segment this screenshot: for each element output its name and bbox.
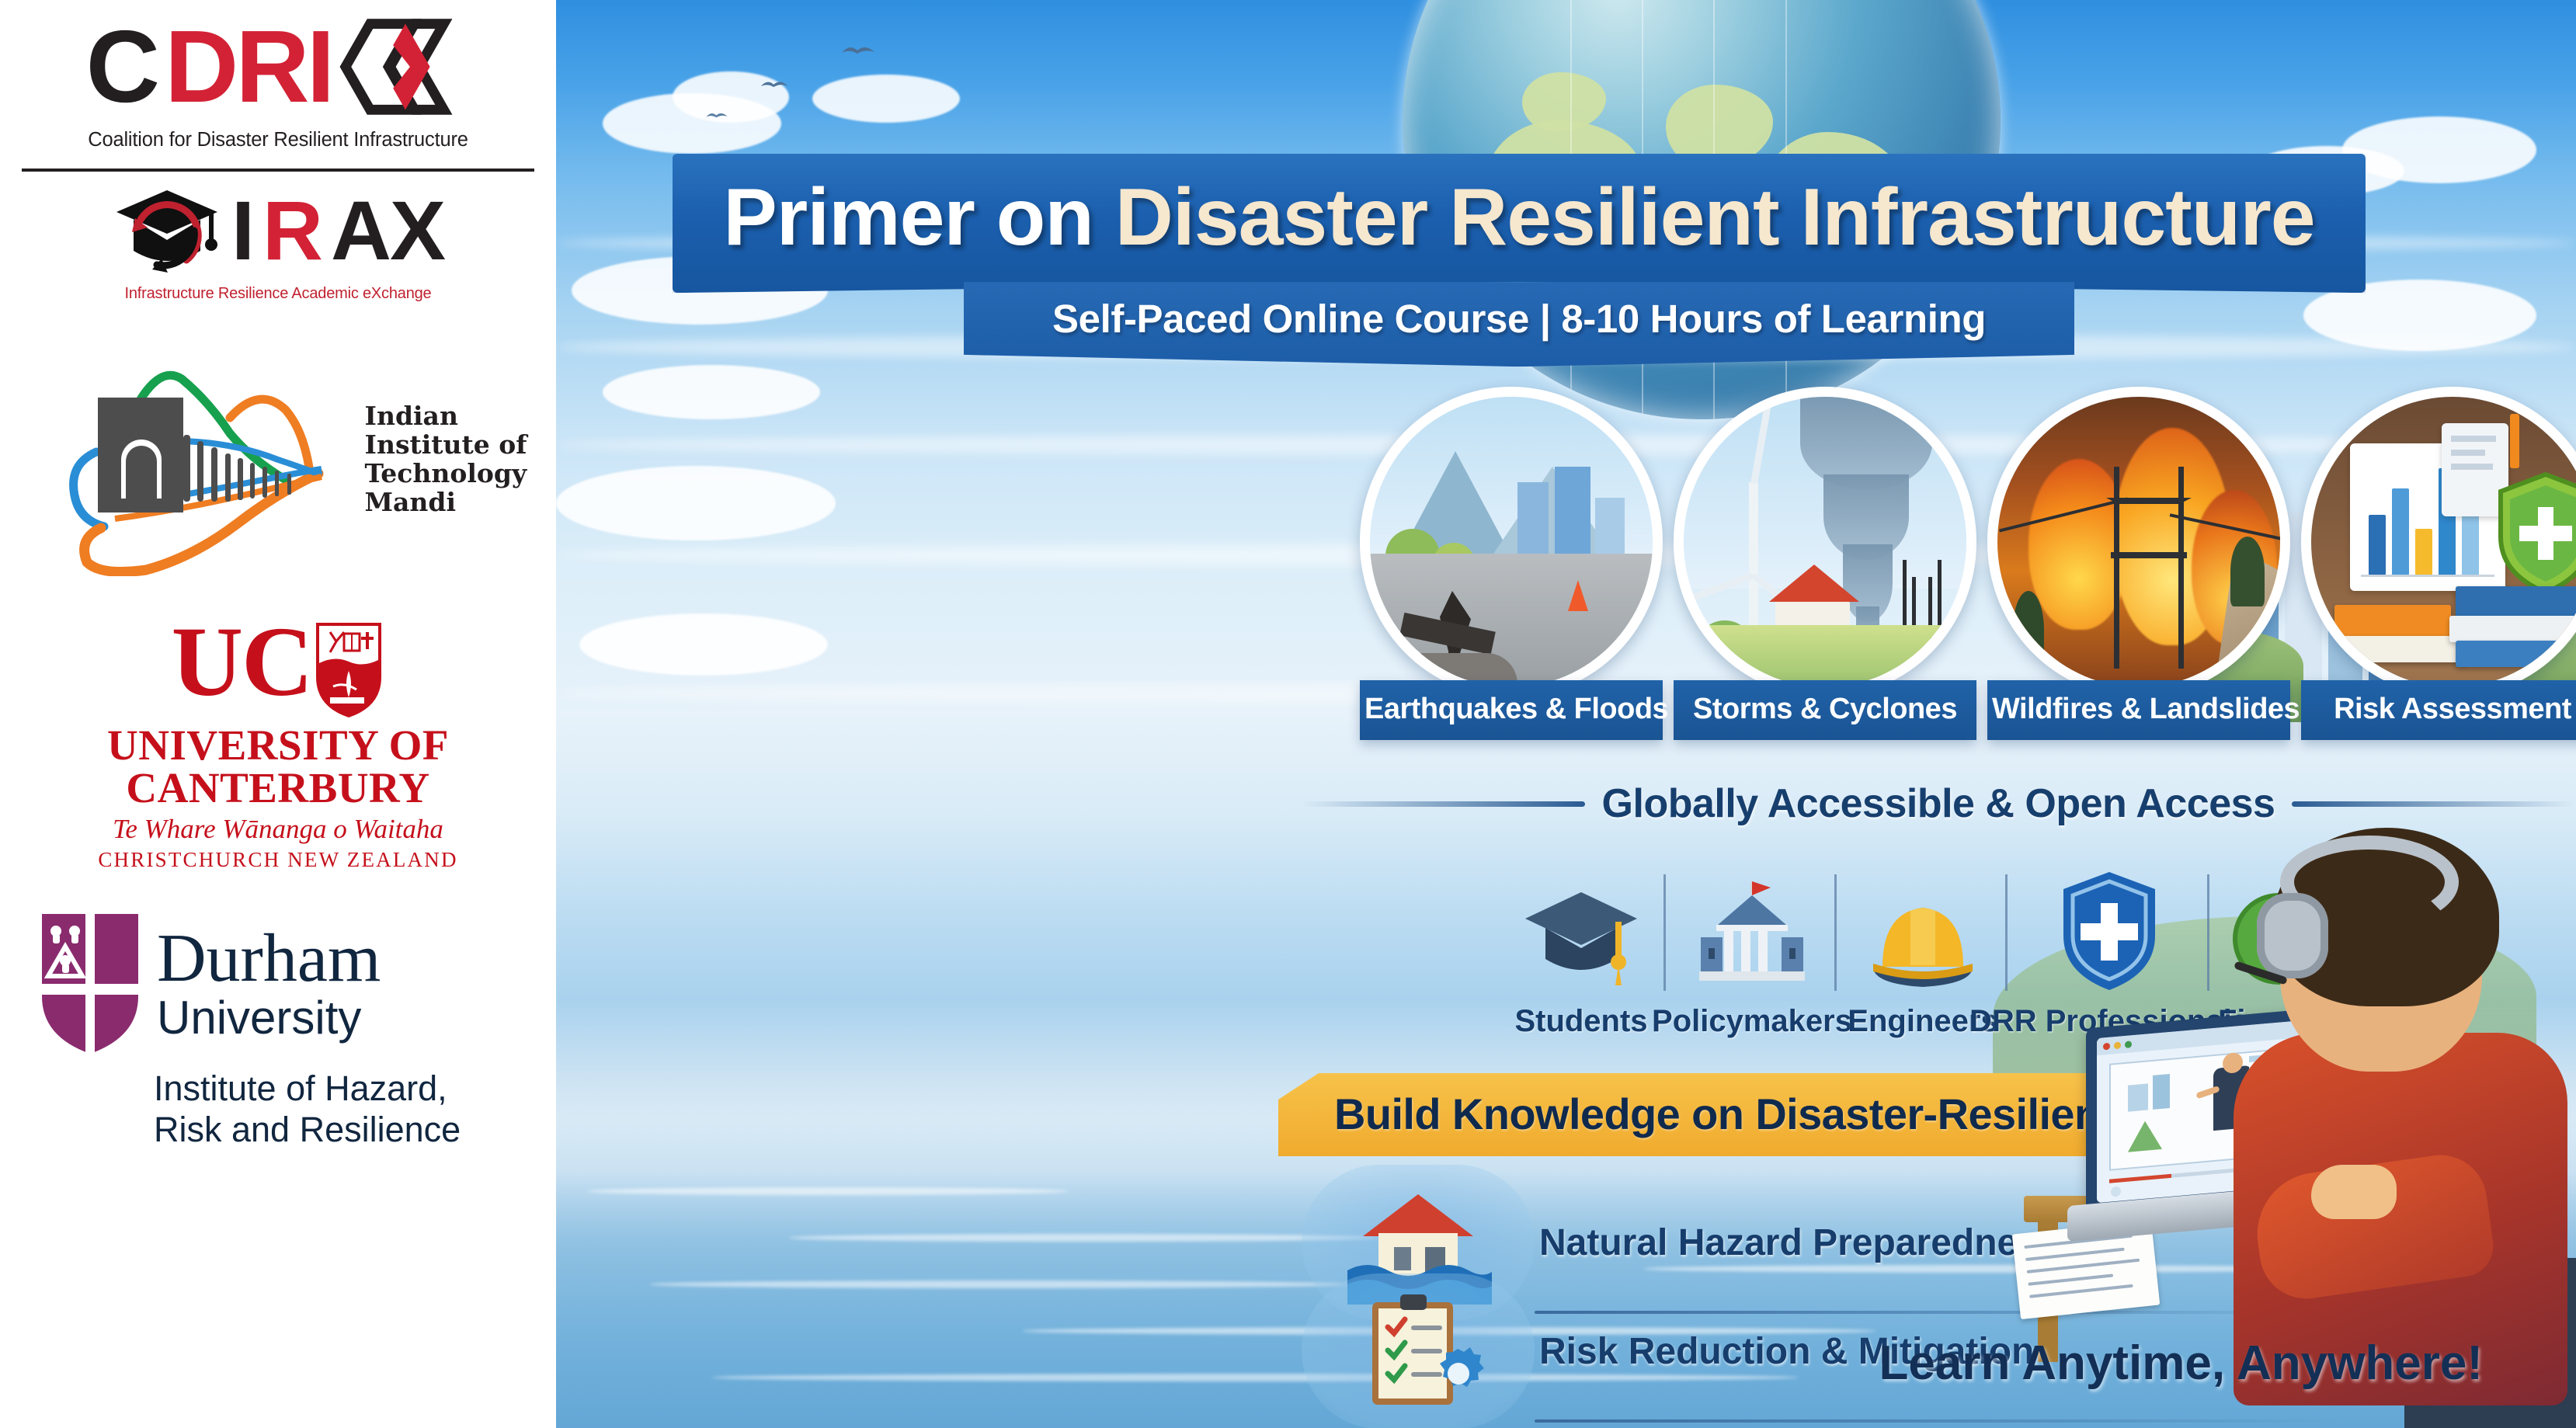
bird-icon — [705, 109, 728, 121]
graduation-cap-exchange-mark-icon — [112, 184, 222, 277]
uc-name-line-2: CANTERBURY — [107, 766, 449, 809]
uc-name-line-1: UNIVERSITY OF — [107, 724, 449, 766]
uc-city: CHRISTCHURCH NEW ZEALAND — [98, 848, 457, 872]
title-part-2: Disaster Resilient Infrastructure — [1115, 172, 2315, 262]
title-banner: Primer on Disaster Resilient Infrastruct… — [673, 154, 2366, 293]
learner-illustration — [2001, 761, 2576, 1428]
logo-iit-mandi: Indian Institute of Technology Mandi — [30, 343, 527, 576]
audience-label: Students — [1514, 1004, 1647, 1039]
irax-wordmark: I R AX — [112, 184, 444, 277]
hazard-card-storms-cyclones[interactable]: Storms & Cyclones — [1674, 387, 1976, 740]
uc-crest-shield-icon — [313, 620, 384, 721]
durham-institute-line-1: Institute of Hazard, — [154, 1068, 461, 1109]
hazard-image-wildfires-landslides — [1987, 387, 2290, 697]
iit-mandi-name: Indian Institute of Technology Mandi — [365, 402, 527, 517]
feature-icon-wrap — [1302, 1273, 1535, 1428]
partner-logos-sidebar: C DRI Coalition for Disaster Resilient I… — [0, 0, 556, 1428]
cdri-subtitle: Coalition for Disaster Resilient Infrast… — [88, 129, 468, 151]
hard-hat-icon — [1849, 853, 1997, 993]
hazard-card-wildfires-landslides[interactable]: Wildfires & Landslides — [1987, 387, 2290, 740]
logo-cdri: C DRI Coalition for Disaster Resilient I… — [6, 11, 550, 151]
graduation-cap-icon — [1507, 853, 1655, 993]
hazard-label: Wildfires & Landslides — [1987, 680, 2290, 740]
uc-maori-name: Te Whare Wānanga o Waitaha — [113, 814, 443, 845]
hazard-topics-row: Earthquakes & Floods — [1360, 387, 2576, 740]
iit-line-3: Technology — [365, 460, 527, 488]
hexagon-chevron-mark-icon — [339, 16, 470, 118]
durham-name: Durham — [157, 926, 381, 992]
tornado-wind-turbine-house-scene — [1684, 397, 1966, 687]
logo-uc-canterbury: UC UNIVERSITY OF CANTERBURY Te Whare Wān… — [98, 617, 457, 872]
audience-students[interactable]: Students — [1496, 853, 1667, 1039]
cdri-letter-c: C — [86, 16, 157, 118]
title-block: Primer on Disaster Resilient Infrastruct… — [673, 154, 2366, 367]
hazard-image-storms-cyclones — [1674, 387, 1976, 697]
bird-icon — [840, 43, 876, 56]
hazard-card-earthquakes-floods[interactable]: Earthquakes & Floods — [1360, 387, 1663, 740]
iit-line-4: Mandi — [365, 488, 527, 517]
irax-letters-ax: AX — [331, 189, 444, 273]
heading-rule-left — [1302, 801, 1585, 807]
logo-durham: Durham University Institute of Hazard, R… — [22, 909, 534, 1150]
charts-books-shield-scene — [2311, 397, 2576, 687]
course-poster: Primer on Disaster Resilient Infrastruct… — [556, 0, 2576, 1428]
tagline: Learn Anytime, Anywhere! — [1879, 1336, 2483, 1391]
uc-name: UNIVERSITY OF CANTERBURY — [107, 724, 449, 809]
subtitle-banner: Self-Paced Online Course | 8-10 Hours of… — [964, 282, 2074, 367]
iit-line-1: Indian — [365, 402, 527, 431]
cdri-wordmark: C DRI — [86, 16, 471, 118]
uc-wordmark: UC — [172, 617, 385, 721]
page-title: Primer on Disaster Resilient Infrastruct… — [704, 175, 2334, 260]
durham-text: Durham University — [157, 909, 381, 1042]
durham-quartered-shield-icon — [37, 909, 143, 1057]
sidebar-divider — [22, 169, 534, 172]
bird-icon — [760, 78, 789, 90]
gateway-bridge-mountains-mark-icon — [30, 343, 356, 576]
hazard-label: Earthquakes & Floods — [1360, 680, 1663, 740]
hazard-image-earthquakes-floods — [1360, 387, 1663, 697]
wildfire-power-pylon-landslide-scene — [1997, 397, 2280, 687]
hazard-card-risk-assessment[interactable]: Risk Assessment — [2301, 387, 2576, 740]
cracked-road-earthquake-city-scene — [1370, 397, 1653, 687]
irax-letter-r: R — [262, 189, 322, 273]
checklist-gear-icon — [1344, 1285, 1492, 1417]
audience-policymakers[interactable]: Policymakers — [1667, 853, 1837, 1039]
logo-irax: I R AX Infrastructure Resilience Academi… — [112, 184, 444, 303]
uc-letters: UC — [172, 617, 312, 708]
irax-letter-i: I — [231, 189, 253, 273]
durham-university: University — [157, 993, 381, 1042]
government-building-icon — [1678, 853, 1826, 993]
learner-hand — [2311, 1165, 2397, 1219]
durham-institute-line-2: Risk and Resilience — [154, 1109, 461, 1150]
course-subtitle: Self-Paced Online Course | 8-10 Hours of… — [964, 296, 2074, 342]
iit-line-2: Institute of — [365, 431, 527, 460]
audience-label: Policymakers — [1652, 1004, 1852, 1039]
hazard-label: Risk Assessment — [2301, 680, 2576, 740]
hazard-image-risk-assessment — [2301, 387, 2576, 697]
durham-wordmark: Durham University — [37, 909, 381, 1057]
headset-earcup-icon — [2257, 893, 2328, 978]
cdri-letters-dri: DRI — [165, 16, 332, 118]
durham-institute: Institute of Hazard, Risk and Resilience — [37, 1068, 461, 1150]
title-part-1: Primer on — [723, 172, 1114, 262]
irax-subtitle: Infrastructure Resilience Academic eXcha… — [125, 285, 432, 303]
hazard-label: Storms & Cyclones — [1674, 680, 1976, 740]
shield-plus-icon — [2496, 471, 2576, 596]
feature-label: Natural Hazard Preparedness — [1539, 1221, 2060, 1264]
